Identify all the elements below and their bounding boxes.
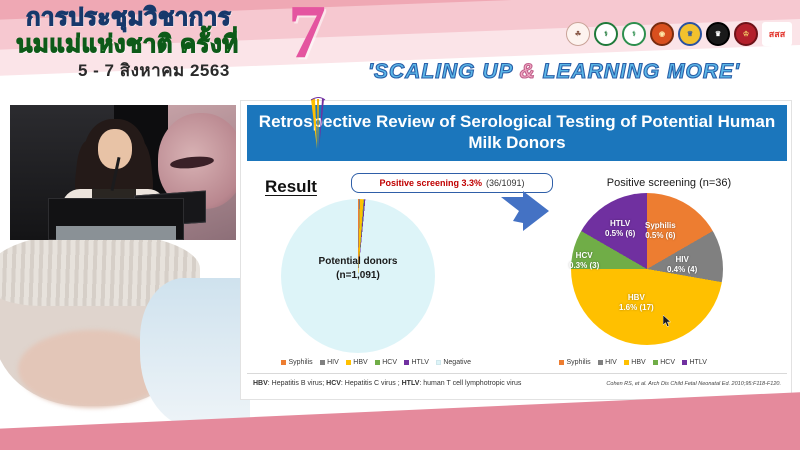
- legend-label-hbv: HBV: [353, 359, 367, 366]
- pie-left-title: Potential donors: [281, 255, 435, 269]
- slice-name-hiv: HIV: [667, 255, 697, 265]
- slice-value-htlv: 0.5% (6): [605, 229, 635, 239]
- pie-slice-label-syphilis: Syphilis 0.5% (6): [645, 221, 676, 242]
- legend-label-hcv: HCV: [660, 359, 675, 366]
- legend-left-item-hcv: HCV: [375, 359, 397, 366]
- legend-right-item-hiv: HIV: [598, 359, 617, 366]
- pie-slice-label-htlv: HTLV 0.5% (6): [605, 219, 635, 240]
- legend-positive-screening: SyphilisHIVHBVHCVHTLV: [559, 359, 707, 366]
- legend-right-item-syphilis: Syphilis: [559, 359, 591, 366]
- conference-date-thai: 5 - 7 สิงหาคม 2563: [78, 62, 230, 79]
- conference-edition-number: 7: [288, 0, 326, 70]
- footnote-hcv-key: HCV: [326, 380, 341, 387]
- legend-label-hcv: HCV: [382, 359, 397, 366]
- sponsor-logo-strip: ☘ ⚕ ⚕ ◉ ♕ ♛ ♔ สสส: [566, 22, 792, 46]
- pie-chart-potential-donors: Potential donors (n=1,091): [281, 199, 435, 353]
- podium-base-shape: [56, 226, 176, 240]
- conference-tagline: 'SCALING UP & LEARNING MORE': [368, 60, 740, 84]
- footnote-htlv-key: HTLV: [402, 380, 420, 387]
- slide-footnote-bar: HBV: Hepatitis B virus; HCV: Hepatitis C…: [247, 373, 787, 393]
- legend-swatch-htlv-icon: [404, 360, 409, 365]
- legend-swatch-hiv-icon: [598, 360, 603, 365]
- footnote-hbv-def: : Hepatitis B virus;: [268, 380, 326, 387]
- legend-right-item-htlv: HTLV: [682, 359, 707, 366]
- slide-content-area: Retrospective Review of Serological Test…: [240, 100, 792, 400]
- slice-value-syphilis: 0.5% (6): [645, 231, 676, 241]
- slice-name-syphilis: Syphilis: [645, 221, 676, 231]
- pie-chart-positive-screening: Syphilis 0.5% (6) HIV 0.4% (4) HBV 1.6% …: [571, 193, 723, 345]
- abbreviation-footnote: HBV: Hepatitis B virus; HCV: Hepatitis C…: [253, 380, 521, 387]
- slice-name-htlv: HTLV: [605, 219, 635, 229]
- legend-label-hiv: HIV: [605, 359, 617, 366]
- logo-thai-crest: ♕: [678, 22, 702, 46]
- right-chart-header: Positive screening (n=36): [559, 177, 779, 189]
- legend-right-item-hbv: HBV: [624, 359, 646, 366]
- logo-sss: สสส: [762, 22, 792, 46]
- slice-value-hbv: 1.6% (17): [619, 303, 654, 313]
- legend-label-hbv: HBV: [631, 359, 645, 366]
- legend-swatch-hcv-icon: [653, 360, 658, 365]
- presentation-screen: การประชุมวิชาการ นมแม่แห่งชาติ ครั้งที่ …: [0, 0, 800, 450]
- callout-highlight-text: Positive screening 3.3%: [379, 178, 482, 188]
- logo-royal-emblem: ☘: [566, 22, 590, 46]
- pie-slice-label-hiv: HIV 0.4% (4): [667, 255, 697, 276]
- conference-title-thai-line2: นมแม่แห่งชาติ ครั้งที่: [16, 33, 239, 57]
- logo-red-seal: ◉: [650, 22, 674, 46]
- logo-ministry-health-2: ⚕: [622, 22, 646, 46]
- tagline-part2: LEARNING MORE': [536, 60, 740, 83]
- pie-slice-label-hbv: HBV 1.6% (17): [619, 293, 654, 314]
- pie-slice-label-hcv: HCV 0.3% (3): [569, 251, 599, 272]
- flow-arrow-icon: [499, 191, 551, 241]
- legend-left-item-hbv: HBV: [346, 359, 368, 366]
- legend-swatch-hiv-icon: [320, 360, 325, 365]
- slice-name-hbv: HBV: [619, 293, 654, 303]
- baby-background-photo: [0, 238, 250, 428]
- legend-left-item-syphilis: Syphilis: [281, 359, 313, 366]
- legend-label-negative: Negative: [443, 359, 471, 366]
- legend-swatch-negative-icon: [436, 360, 441, 365]
- pie-left-subtitle: (n=1,091): [281, 269, 435, 283]
- source-citation: Cohen RS, et al. Arch Dis Child Fetal Ne…: [606, 381, 781, 387]
- legend-left-item-negative: Negative: [436, 359, 471, 366]
- legend-left-item-hiv: HIV: [320, 359, 339, 366]
- logo-ministry-health-1: ⚕: [594, 22, 618, 46]
- legend-swatch-syphilis-icon: [281, 360, 286, 365]
- tagline-part1: 'SCALING UP: [368, 60, 520, 83]
- footnote-hbv-key: HBV: [253, 380, 268, 387]
- legend-label-syphilis: Syphilis: [567, 359, 591, 366]
- presenter-video-feed[interactable]: [10, 105, 236, 240]
- baby-blanket-shape: [140, 278, 250, 428]
- legend-potential-donors: SyphilisHIVHBVHCVHTLVNegative: [281, 359, 471, 366]
- legend-label-syphilis: Syphilis: [289, 359, 313, 366]
- callout-pointer-lines: [309, 97, 329, 149]
- slice-name-hcv: HCV: [569, 251, 599, 261]
- legend-swatch-syphilis-icon: [559, 360, 564, 365]
- footnote-htlv-def: : human T cell lymphotropic virus: [419, 380, 521, 387]
- logo-crimson-seal: ♔: [734, 22, 758, 46]
- logo-black-seal: ♛: [706, 22, 730, 46]
- legend-label-htlv: HTLV: [411, 359, 428, 366]
- tagline-ampersand: &: [520, 60, 536, 83]
- legend-right-item-hcv: HCV: [653, 359, 675, 366]
- positive-screening-callout: Positive screening 3.3% (36/1091): [351, 173, 553, 193]
- mouse-cursor-icon: [663, 315, 672, 328]
- result-section-label: Result: [265, 177, 317, 197]
- conference-header-banner: การประชุมวิชาการ นมแม่แห่งชาติ ครั้งที่ …: [0, 0, 800, 95]
- legend-swatch-hbv-icon: [624, 360, 629, 365]
- presenter-face: [98, 129, 132, 169]
- legend-swatch-htlv-icon: [682, 360, 687, 365]
- legend-label-hiv: HIV: [327, 359, 339, 366]
- conference-title-thai-line1: การประชุมวิชาการ: [26, 6, 231, 30]
- slice-value-hiv: 0.4% (4): [667, 265, 697, 275]
- pie-left-center-label: Potential donors (n=1,091): [281, 255, 435, 282]
- legend-swatch-hbv-icon: [346, 360, 351, 365]
- slice-value-hcv: 0.3% (3): [569, 261, 599, 271]
- legend-left-item-htlv: HTLV: [404, 359, 429, 366]
- legend-swatch-hcv-icon: [375, 360, 380, 365]
- footnote-hcv-def: : Hepatitis C virus ;: [341, 380, 402, 387]
- legend-label-htlv: HTLV: [689, 359, 706, 366]
- callout-fraction-text: (36/1091): [486, 178, 525, 188]
